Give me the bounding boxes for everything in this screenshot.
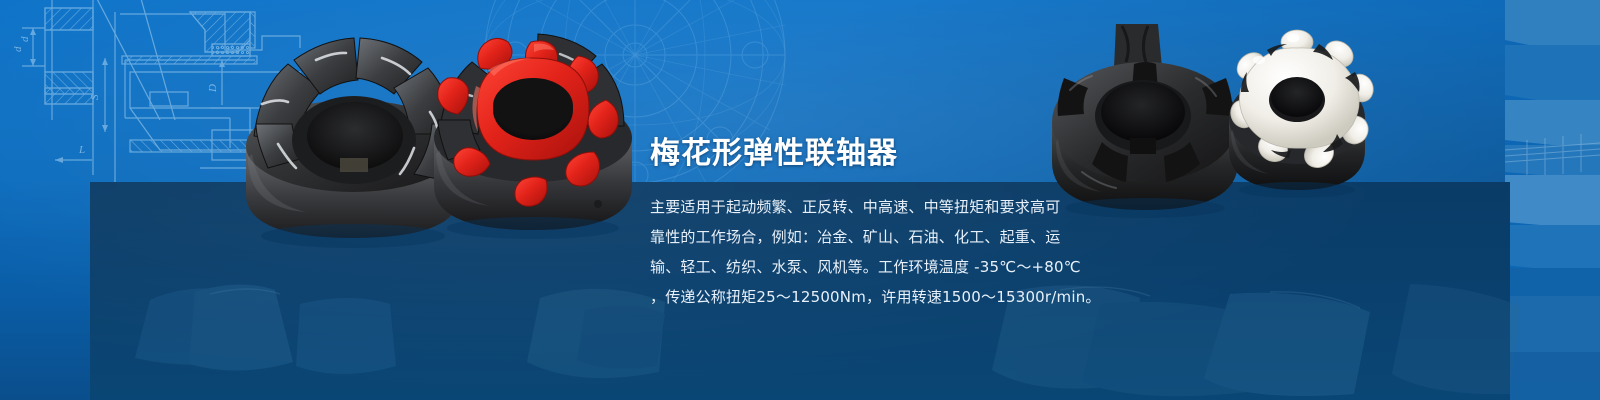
product-jaw-coupling-red-spider bbox=[418, 18, 648, 268]
product-banner: d d S D L L L L₀ bbox=[0, 0, 1600, 400]
description-line-4: ，传递公称扭矩25～12500Nm，许用转速1500～15300r/min。 bbox=[650, 282, 1070, 312]
description-line-1: 主要适用于起动频繁、正反转、中高速、中等扭矩和要求高可 bbox=[650, 192, 1070, 222]
product-description: 主要适用于起动频繁、正反转、中高速、中等扭矩和要求高可 靠性的工作场合，例如：冶… bbox=[650, 192, 1070, 312]
description-line-2: 靠性的工作场合，例如：冶金、矿山、石油、化工、起重、运 bbox=[650, 222, 1070, 252]
description-line-3: 输、轻工、纺织、水泵、风机等。工作环境温度 -35℃～+80℃ bbox=[650, 252, 1070, 282]
page-title: 梅花形弹性联轴器 bbox=[650, 134, 1070, 174]
product-jaw-coupling-white-spider bbox=[1215, 22, 1380, 202]
banner-copy: 梅花形弹性联轴器 主要适用于起动频繁、正反转、中高速、中等扭矩和要求高可 靠性的… bbox=[650, 134, 1070, 312]
